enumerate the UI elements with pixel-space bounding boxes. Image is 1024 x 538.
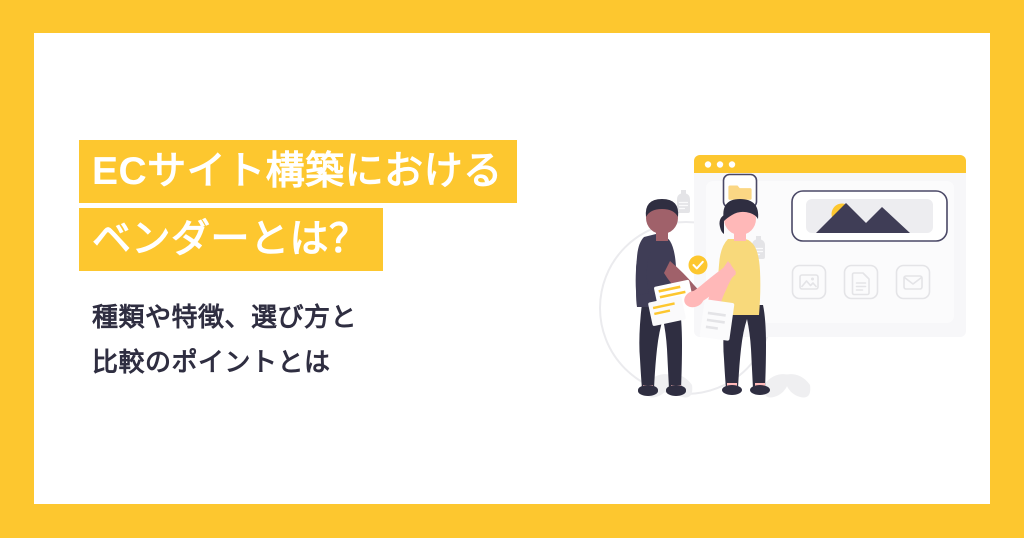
hero-illustration [594, 133, 974, 433]
page-subtitle: 種類や特徴、選び方と 比較のポイントとは [79, 295, 619, 385]
tag-icon-left [677, 190, 690, 213]
page-title: ECサイト構築における [79, 140, 619, 208]
white-canvas: ECサイト構築における ベンダーとは？ 種類や特徴、選び方と 比較のポイントとは [34, 33, 990, 504]
yellow-frame: ECサイト構築における ベンダーとは？ 種類や特徴、選び方と 比較のポイントとは [0, 0, 1024, 538]
page-subtitle-line-1: 種類や特徴、選び方と [92, 295, 619, 340]
page-title-line-1: ECサイト構築における [79, 140, 517, 203]
check-badge-icon [689, 256, 708, 275]
page-title-line-2-wrap: ベンダーとは？ [79, 208, 619, 271]
image-preview [792, 191, 947, 241]
page-subtitle-line-2: 比較のポイントとは [92, 340, 619, 385]
hero-text-column: ECサイト構築における ベンダーとは？ 種類や特徴、選び方と 比較のポイントとは [79, 140, 619, 385]
browser-window-dots [705, 161, 735, 167]
held-document-right [700, 299, 735, 341]
page-title-line-2: ベンダーとは？ [79, 208, 383, 271]
